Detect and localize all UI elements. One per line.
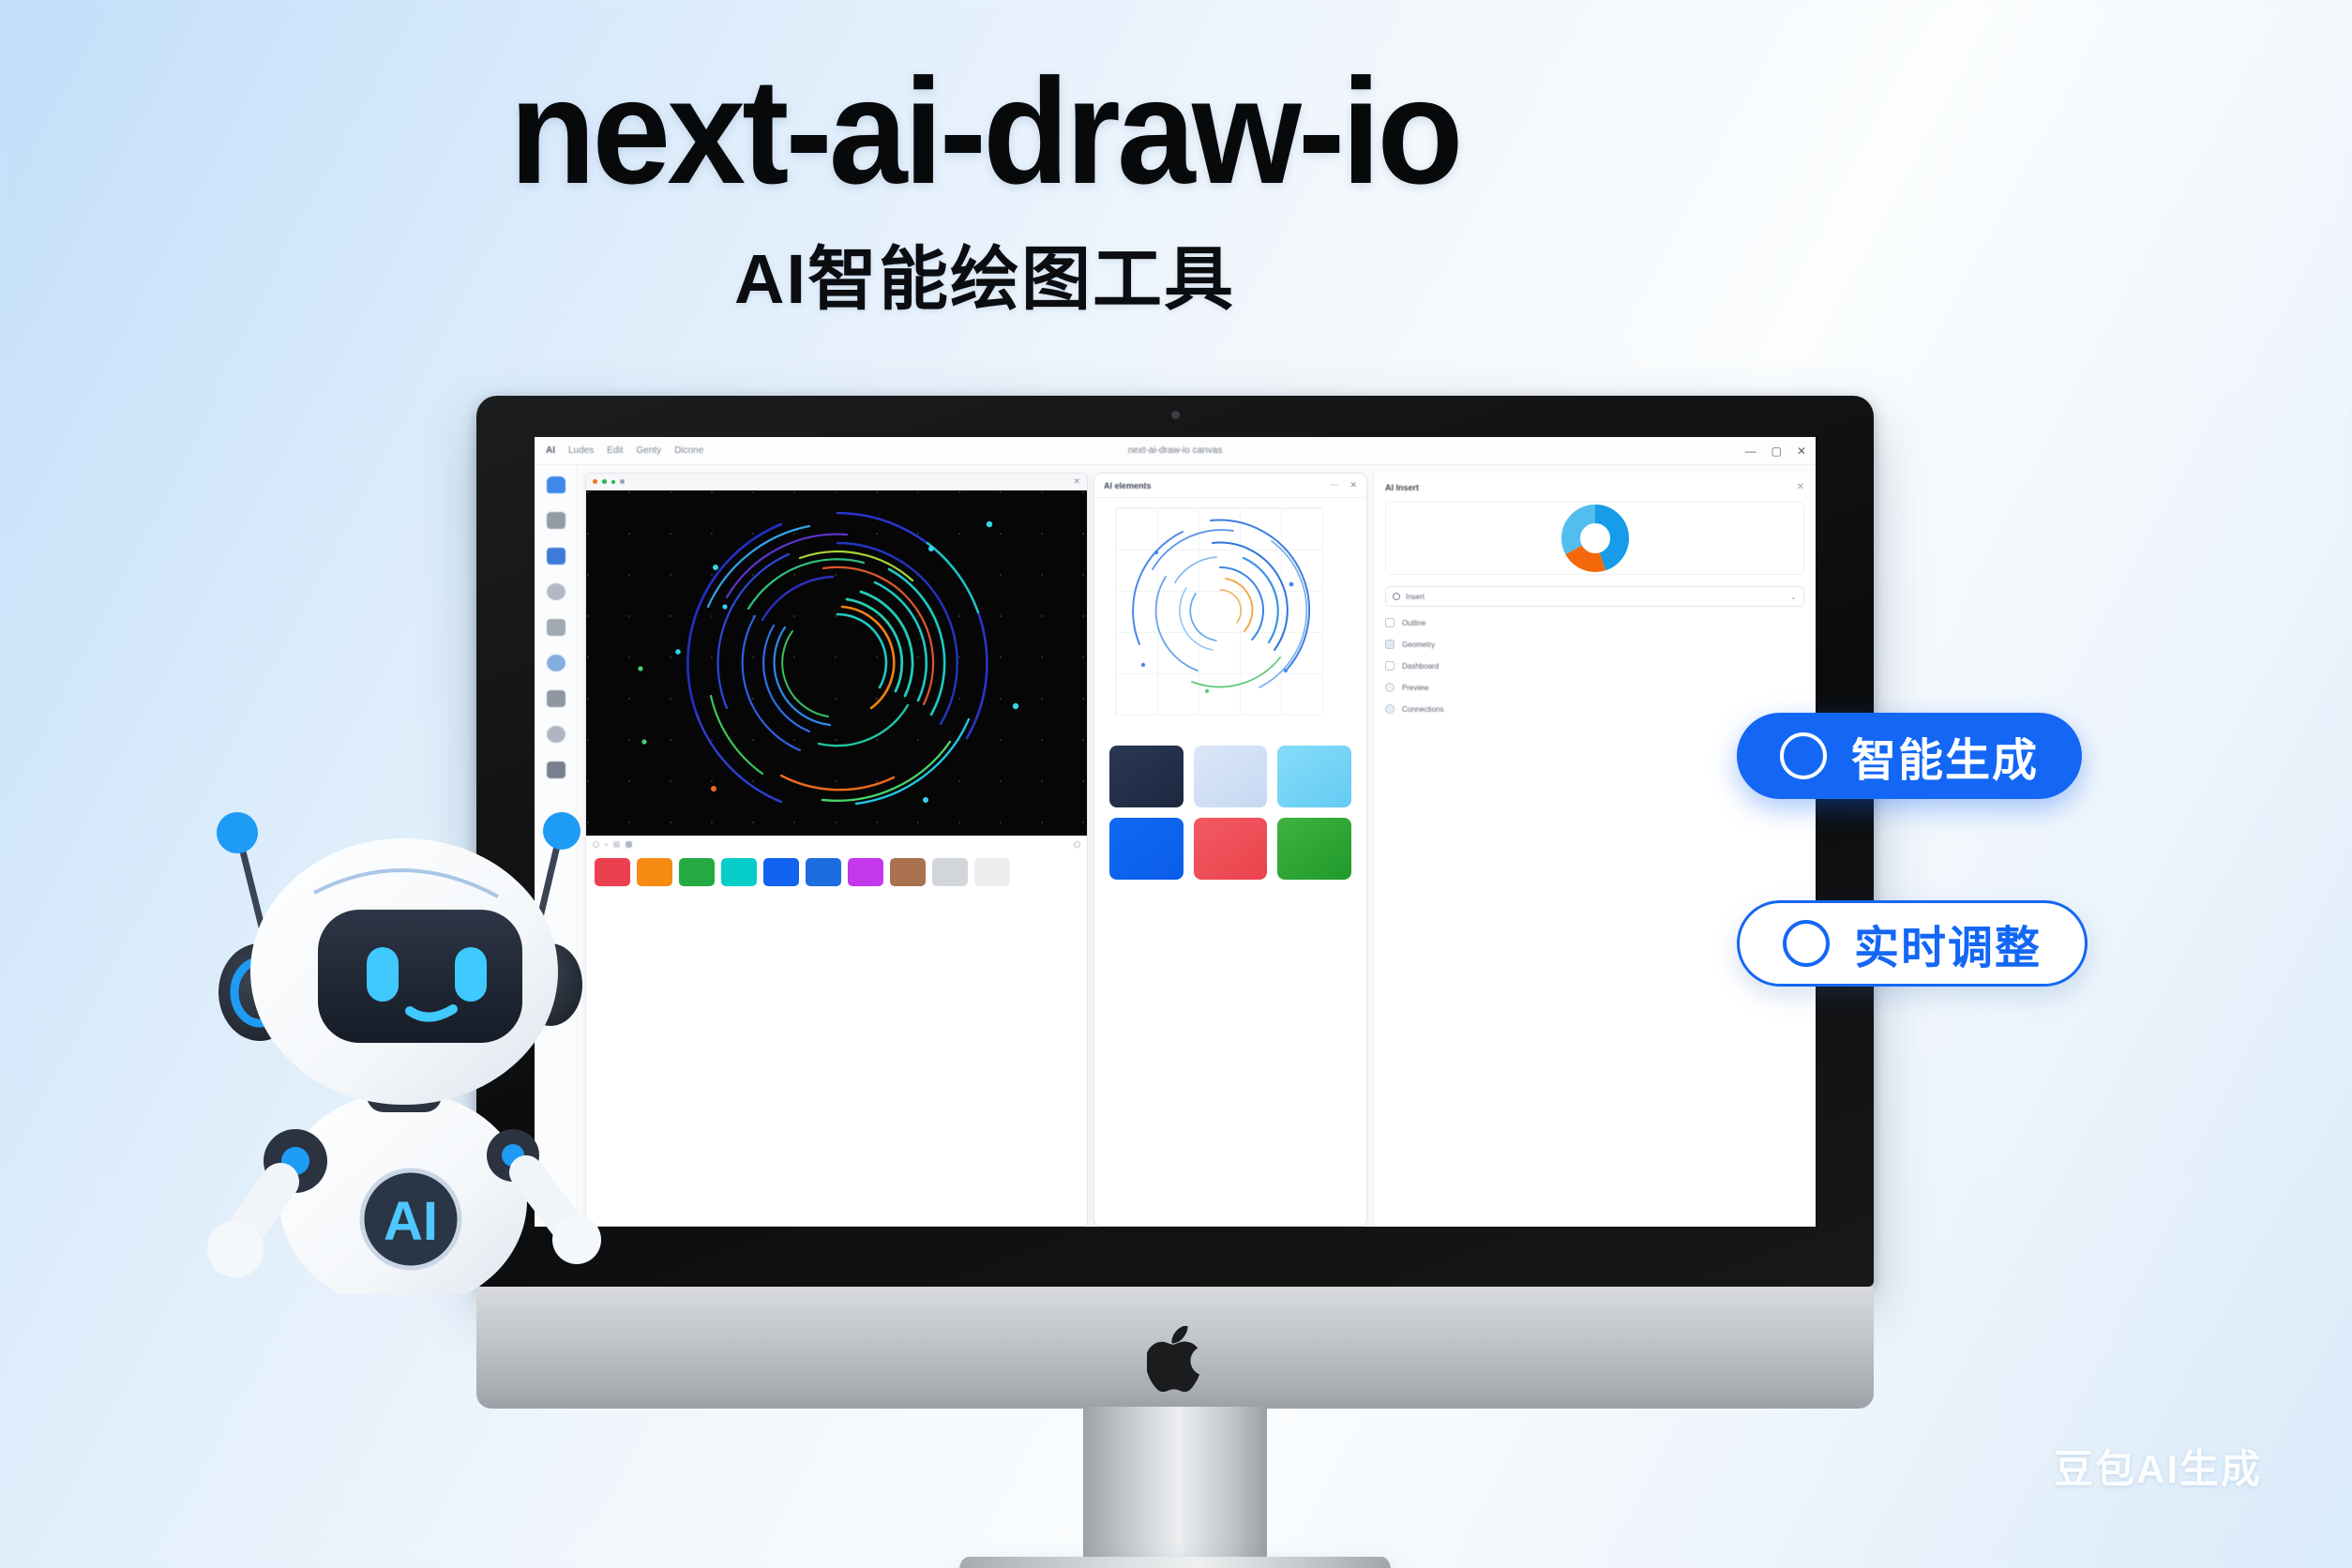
screen: AI Ludes Edit Genty Dicone next-ai-draw-… [535,437,1816,1227]
hero-header: next-ai-draw-io AI智能绘图工具 [0,56,1969,324]
list-item[interactable]: Geometry [1385,640,1804,649]
color-swatch-bar [586,836,1087,897]
ai-insert-title: AI Insert [1385,483,1419,492]
list-item[interactable]: Preview [1385,683,1804,692]
sidebar-item-link[interactable] [547,726,565,743]
palette-blue[interactable] [1109,818,1184,880]
spiral-arcs-graphic [586,490,1088,836]
window-title: next-ai-draw-io canvas [535,437,1816,465]
palette-grid [1094,734,1366,895]
robot-eye-right [455,947,487,1002]
panel-close-icon[interactable]: ✕ [1349,480,1357,490]
robot-eye-left [367,947,399,1002]
insert-select[interactable]: Insert ⌄ [1385,586,1804,607]
list-item[interactable]: Connections [1385,704,1804,714]
monitor-neck [1083,1407,1267,1564]
traffic-dot-gray[interactable] [620,479,625,484]
sidebar-item-nodes[interactable] [547,761,565,778]
ai-elements-preview[interactable] [1094,498,1366,734]
maximize-button[interactable]: ▢ [1772,445,1782,457]
option-label: Outline [1402,619,1425,627]
badge-smart-generate[interactable]: 智能生成 [1737,713,2082,799]
app-body: ✕ [535,465,1816,1227]
checkbox-outline[interactable] [1385,618,1395,627]
swatch-blue[interactable] [763,858,799,886]
canvas-artwork[interactable] [586,490,1087,836]
settings-icon[interactable] [1074,841,1080,848]
donut-chart-thumbnail[interactable] [1385,502,1804,575]
ai-elements-panel: AI elements ⋯ ✕ [1093,473,1367,1227]
traffic-dot-green2[interactable] [611,480,615,484]
menu-item-dicone[interactable]: Dicone [674,445,703,456]
sidebar-item-shapes[interactable] [547,512,565,529]
traffic-dot-orange[interactable] [593,479,597,484]
ai-insert-header: AI Insert ✕ [1385,482,1804,492]
badge-label: 实时调整 [1854,911,2042,976]
close-button[interactable]: ✕ [1797,445,1806,457]
select-value: Insert [1406,593,1425,601]
antenna-ball-left [217,812,258,853]
menu-item-edit[interactable]: Edit [607,445,623,456]
options-list: Outline Geometry Dashboard Preview [1385,618,1804,714]
swatch-row [586,852,1087,897]
checkbox-geometry[interactable] [1385,640,1395,649]
chest-label: AI [384,1191,438,1252]
imac-mockup: AI Ludes Edit Genty Dicone next-ai-draw-… [476,396,1874,1455]
palette-red[interactable] [1194,818,1268,880]
option-label: Dashboard [1402,662,1439,671]
swatch-orange[interactable] [637,858,672,886]
webcam-icon [1171,411,1180,419]
monitor-foot [959,1557,1391,1568]
heart-icon[interactable] [626,841,632,848]
app-menubar: AI Ludes Edit Genty Dicone next-ai-draw-… [535,437,1816,465]
ai-elements-header: AI elements ⋯ ✕ [1094,474,1366,498]
radio-preview[interactable] [1385,683,1395,692]
traffic-dot-green[interactable] [602,479,607,484]
badge-realtime-adjust[interactable]: 实时调整 [1737,900,2088,987]
checkbox-dashboard[interactable] [1385,661,1395,671]
window-controls: — ▢ ✕ [1745,437,1806,465]
ai-elements-title: AI elements [1104,481,1152,490]
swatch-light[interactable] [974,858,1010,886]
sidebar-item-cloud[interactable] [547,655,565,671]
canvas-window-titlebar[interactable]: ✕ [586,474,1087,490]
palette-pale-blue[interactable] [1194,746,1268,807]
radio-connections[interactable] [1385,704,1395,714]
sidebar-item-layers[interactable] [547,548,565,565]
robot-mascot: AI [183,788,624,1294]
ai-insert-panel: AI Insert ✕ Insert [1373,473,1816,1227]
minimize-button[interactable]: — [1745,445,1756,457]
robot-visor [318,910,522,1043]
menu-item-genty[interactable]: Genty [636,445,661,456]
circle-outline-icon [1783,920,1830,967]
swatch-gray[interactable] [932,858,968,886]
sidebar-item-refresh[interactable] [547,583,565,600]
chevron-down-icon[interactable]: ⌄ [1790,593,1797,601]
canvas-window: ✕ [585,473,1088,1227]
swatch-green[interactable] [679,858,715,886]
sidebar-item-document[interactable] [547,619,565,636]
monitor-bezel: AI Ludes Edit Genty Dicone next-ai-draw-… [476,396,1874,1287]
sidebar-item-home[interactable] [547,476,565,493]
ai-insert-close-icon[interactable]: ✕ [1797,482,1804,492]
palette-navy[interactable] [1109,746,1184,807]
palette-sky[interactable] [1277,746,1351,807]
more-options-icon[interactable]: ⋯ [1330,480,1338,490]
option-label: Preview [1402,684,1428,692]
donut-chart-icon [1561,505,1629,572]
list-item[interactable]: Outline [1385,618,1804,627]
watermark: 豆包AI生成 [2054,1438,2262,1495]
sidebar-item-grid[interactable] [547,690,565,707]
page-title: next-ai-draw-io [59,56,1910,206]
canvas-close-icon[interactable]: ✕ [1073,476,1080,487]
menu-item-ludes[interactable]: Ludes [568,445,594,456]
menu-item-ai[interactable]: AI [546,445,555,456]
preview-spiral-graphic [1094,498,1367,734]
badge-label: 智能生成 [1851,723,2039,789]
swatch-toolbar [586,837,1087,852]
option-label: Geometry [1402,641,1435,649]
antenna-ball-right [543,812,580,850]
apple-logo-icon [1147,1326,1203,1392]
circle-outline-icon [1780,732,1827,779]
swatch-brown[interactable] [890,858,926,886]
select-dot-icon [1393,593,1400,600]
swatch-magenta[interactable] [848,858,883,886]
swatch-teal[interactable] [721,858,757,886]
page-subtitle: AI智能绘图工具 [0,223,1969,324]
list-item[interactable]: Dashboard [1385,661,1804,671]
swatch-blue-dark[interactable] [806,858,841,886]
option-label: Connections [1402,705,1443,714]
palette-green[interactable] [1277,818,1351,880]
